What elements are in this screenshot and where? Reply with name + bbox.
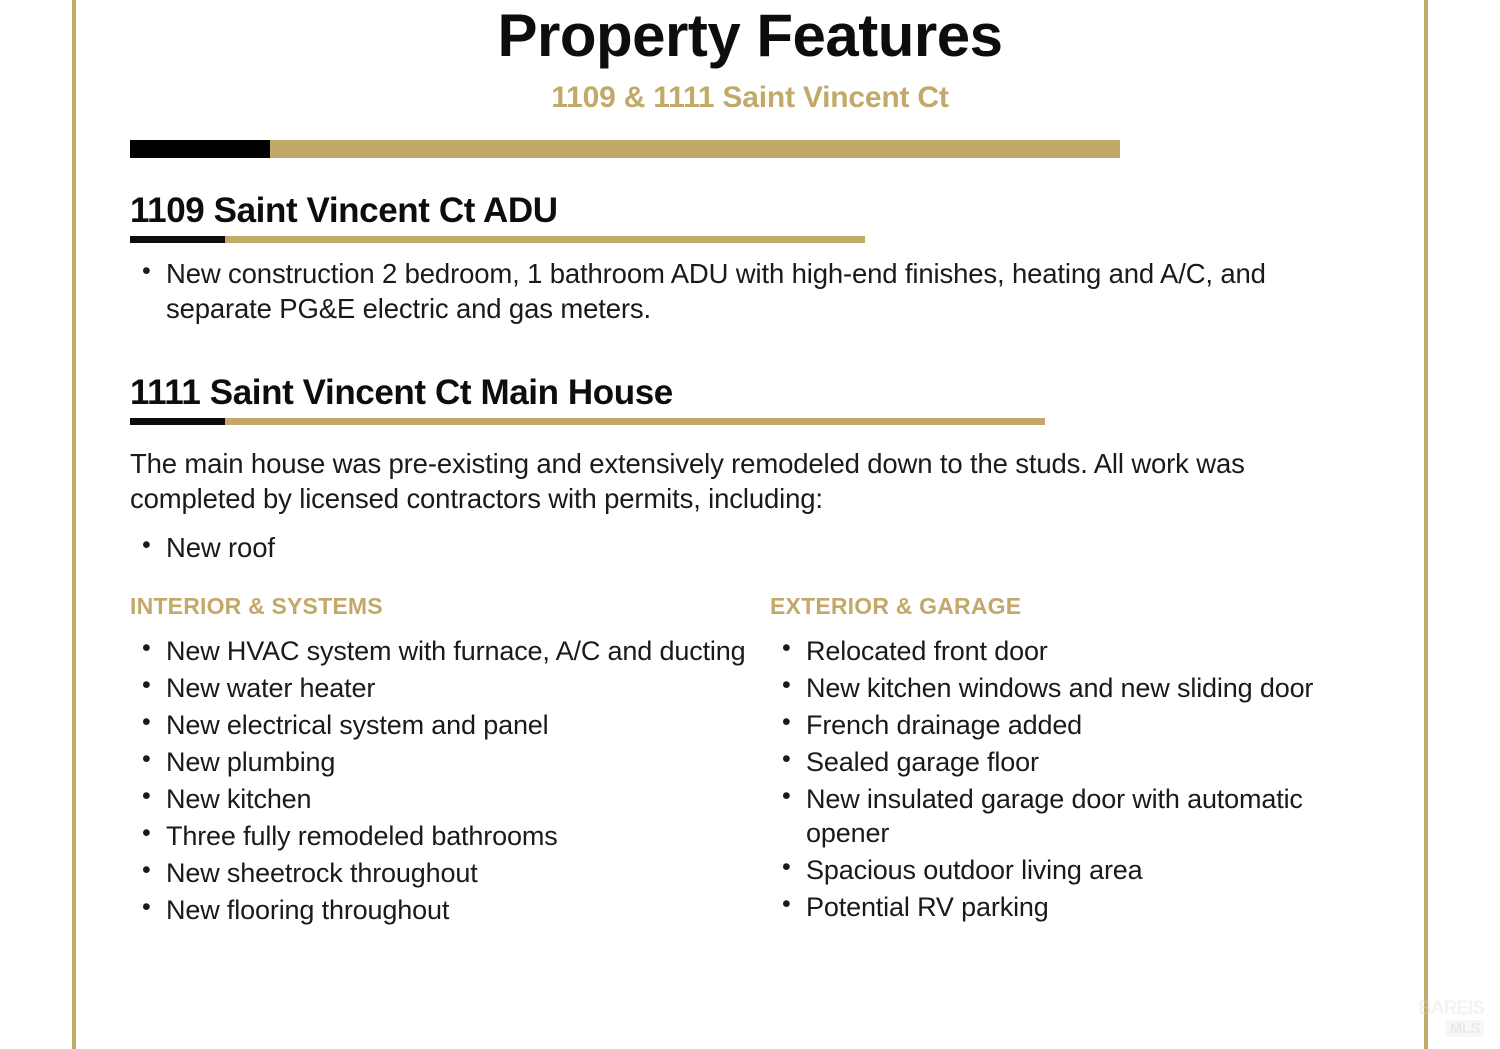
list-item: Spacious outdoor living area xyxy=(770,853,1375,887)
section-main-house-heading: 1111 Saint Vincent Ct Main House xyxy=(130,372,1375,414)
column-interior-systems: INTERIOR & SYSTEMS New HVAC system with … xyxy=(130,593,770,930)
page-title: Property Features xyxy=(0,4,1500,69)
list-item: French drainage added xyxy=(770,708,1375,742)
list-item: New plumbing xyxy=(130,745,770,779)
divider-segment-gold xyxy=(270,140,1120,158)
section-adu-heading: 1109 Saint Vincent Ct ADU xyxy=(130,190,1375,232)
list-item: New water heater xyxy=(130,671,770,705)
bareis-mls-watermark: BAREIS MLS xyxy=(1396,995,1484,1041)
underline-segment-black xyxy=(130,418,225,425)
list-item: New flooring throughout xyxy=(130,893,770,927)
column-interior-systems-heading: INTERIOR & SYSTEMS xyxy=(130,593,770,620)
watermark-line-2: MLS xyxy=(1446,1020,1484,1037)
section-adu-bullet-list: New construction 2 bedroom, 1 bathroom A… xyxy=(130,257,1375,326)
header-divider-rule xyxy=(130,140,1120,158)
list-item: Relocated front door xyxy=(770,634,1375,668)
page-border-right-rule xyxy=(1424,0,1428,1049)
list-item: New electrical system and panel xyxy=(130,708,770,742)
column-exterior-garage-heading: EXTERIOR & GARAGE xyxy=(770,593,1375,620)
section-main-house-underline xyxy=(130,418,1045,425)
list-item: New roof xyxy=(130,531,1375,566)
section-adu: 1109 Saint Vincent Ct ADU New constructi… xyxy=(130,190,1375,326)
section-main-house: 1111 Saint Vincent Ct Main House The mai… xyxy=(130,372,1375,930)
column-interior-systems-list: New HVAC system with furnace, A/C and du… xyxy=(130,634,770,927)
page-subtitle: 1109 & 1111 Saint Vincent Ct xyxy=(0,81,1500,115)
column-exterior-garage-list: Relocated front door New kitchen windows… xyxy=(770,634,1375,924)
list-item: Sealed garage floor xyxy=(770,745,1375,779)
watermark-line-1: BAREIS xyxy=(1418,999,1484,1018)
list-item: New kitchen xyxy=(130,782,770,816)
list-item: Potential RV parking xyxy=(770,890,1375,924)
section-adu-underline xyxy=(130,236,865,243)
feature-columns: INTERIOR & SYSTEMS New HVAC system with … xyxy=(130,593,1375,930)
list-item: New construction 2 bedroom, 1 bathroom A… xyxy=(130,257,1375,326)
underline-segment-gold xyxy=(225,418,1045,425)
section-main-house-paragraph: The main house was pre-existing and exte… xyxy=(130,447,1375,516)
list-item: Three fully remodeled bathrooms xyxy=(130,819,770,853)
page-border-left-rule xyxy=(72,0,76,1049)
underline-segment-black xyxy=(130,236,225,243)
column-exterior-garage: EXTERIOR & GARAGE Relocated front door N… xyxy=(770,593,1375,930)
document-header: Property Features 1109 & 1111 Saint Vinc… xyxy=(0,0,1500,115)
section-main-house-bullet-list: New roof xyxy=(130,531,1375,566)
list-item: New kitchen windows and new sliding door xyxy=(770,671,1375,705)
list-item: New insulated garage door with automatic… xyxy=(770,782,1375,850)
list-item: New sheetrock throughout xyxy=(130,856,770,890)
divider-segment-black xyxy=(130,140,270,158)
document-body: 1109 Saint Vincent Ct ADU New constructi… xyxy=(130,190,1375,930)
underline-segment-gold xyxy=(225,236,865,243)
document-page: Property Features 1109 & 1111 Saint Vinc… xyxy=(0,0,1500,1049)
list-item: New HVAC system with furnace, A/C and du… xyxy=(130,634,770,668)
